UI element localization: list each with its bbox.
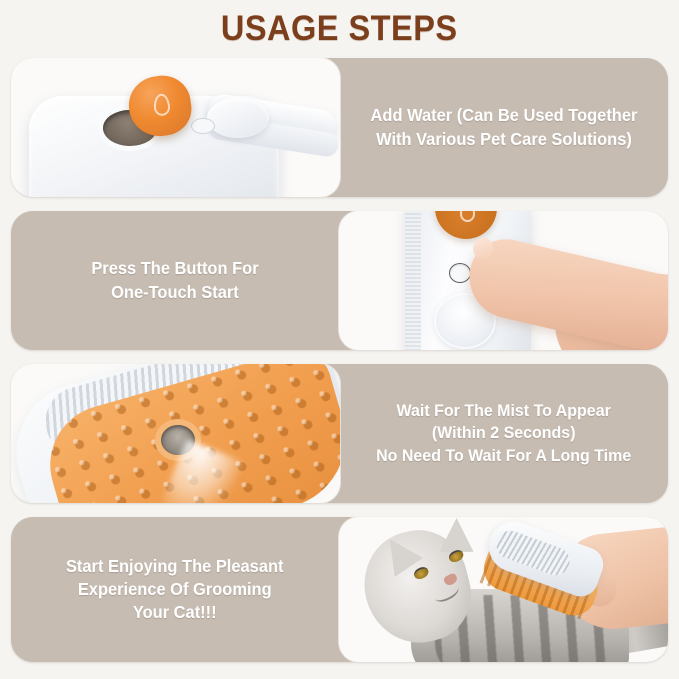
device-knob-shape <box>207 98 269 138</box>
step-row-4: Start Enjoying The Pleasant Experience O… <box>11 517 668 662</box>
cat-ear-right-icon <box>440 518 474 552</box>
one-touch-start-button-icon <box>449 263 471 283</box>
step-row-1: Add Water (Can Be Used Together With Var… <box>11 58 668 197</box>
step-1-image <box>11 58 340 197</box>
step-2-text-panel: Press The Button For One-Touch Start <box>11 211 339 350</box>
page-title: USAGE STEPS <box>221 9 458 49</box>
step-4-text-panel: Start Enjoying The Pleasant Experience O… <box>11 517 339 662</box>
step-3-text-panel: Wait For The Mist To Appear (Within 2 Se… <box>340 364 668 503</box>
device-start-button-icon <box>191 118 215 134</box>
device-grip-texture <box>405 211 421 350</box>
step-2-caption: Press The Button For One-Touch Start <box>91 257 258 303</box>
step-row-2: Press The Button For One-Touch Start <box>11 211 668 350</box>
cat-eye-left-icon <box>412 565 430 581</box>
step-row-3: Wait For The Mist To Appear (Within 2 Se… <box>11 364 668 503</box>
step-4-image <box>339 517 668 662</box>
step-3-caption: Wait For The Mist To Appear (Within 2 Se… <box>376 400 631 467</box>
step-3-image <box>11 364 340 503</box>
step-1-caption: Add Water (Can Be Used Together With Var… <box>371 104 638 150</box>
cat-mouth-icon <box>432 581 462 605</box>
step-2-image <box>339 211 668 350</box>
page-header: USAGE STEPS <box>0 0 679 58</box>
step-1-text-panel: Add Water (Can Be Used Together With Var… <box>340 58 668 197</box>
usage-steps-list: Add Water (Can Be Used Together With Var… <box>0 58 679 662</box>
step-4-caption: Start Enjoying The Pleasant Experience O… <box>66 555 284 624</box>
